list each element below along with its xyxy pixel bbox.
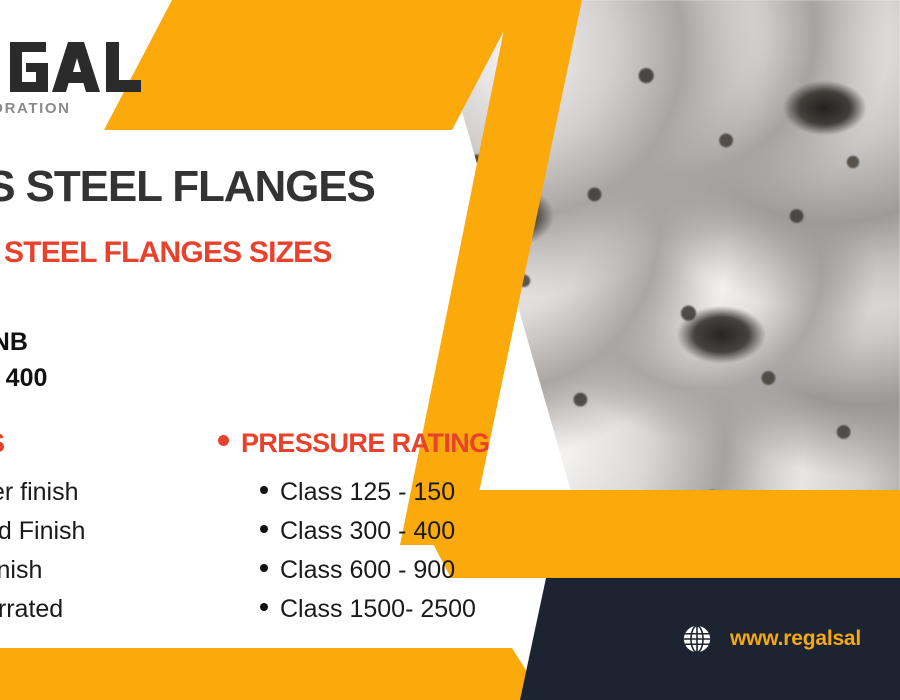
page-subtitle: SS STEEL FLANGES SIZES xyxy=(0,236,332,270)
list-item: ed Finish xyxy=(0,512,204,551)
list-item: Class 300 - 400 xyxy=(260,512,548,551)
finish-heading-label: S xyxy=(0,428,4,459)
pressure-rating-list: Class 125 - 150 Class 300 - 400 Class 60… xyxy=(260,473,548,629)
website-url[interactable]: www.regalsal xyxy=(730,627,861,651)
pressure-rating-heading: PRESSURE RATING xyxy=(218,428,548,459)
finish-item-label: errated xyxy=(0,590,63,629)
finish-item-label: ed Finish xyxy=(0,512,85,551)
marketing-banner: www.regalsal ORPORATION SS STEEL FLANGES… xyxy=(0,0,900,700)
pressure-item-label: Class 300 - 400 xyxy=(280,512,455,551)
footer-content: www.regalsal xyxy=(682,624,861,654)
finish-list: ter finish ed Finish finish errated xyxy=(0,473,204,629)
yellow-bottom-bar xyxy=(0,648,560,700)
pressure-rating-column: PRESSURE RATING Class 125 - 150 Class 30… xyxy=(218,428,548,629)
bullet-dot-icon xyxy=(260,603,268,611)
list-item: Class 1500- 2500 xyxy=(260,590,548,629)
bullet-dot-icon xyxy=(260,525,268,533)
list-item: ter finish xyxy=(0,473,204,512)
finish-item-label: finish xyxy=(0,551,42,590)
logo-subtitle: ORPORATION xyxy=(0,100,152,117)
list-item: finish xyxy=(0,551,204,590)
pressure-rating-heading-label: PRESSURE RATING xyxy=(241,428,490,459)
globe-icon xyxy=(682,624,712,654)
finish-item-label: ter finish xyxy=(0,473,78,512)
list-item: Class 125 - 150 xyxy=(260,473,548,512)
bullet-dot-icon xyxy=(260,564,268,572)
pressure-item-label: Class 600 - 900 xyxy=(280,551,455,590)
company-logo: ORPORATION xyxy=(0,36,152,117)
page-title: SS STEEL FLANGES xyxy=(0,162,375,212)
bullet-dot-icon xyxy=(260,486,268,494)
regal-logo-icon xyxy=(0,36,152,98)
spec-item-pn: PN 400 xyxy=(0,360,47,396)
size-spec-list: 8 " 00NB PN 400 xyxy=(0,288,47,396)
finish-column: S ter finish ed Finish finish errated xyxy=(0,428,204,629)
list-item: Class 600 - 900 xyxy=(260,551,548,590)
finish-heading: S xyxy=(0,428,204,459)
pressure-item-label: Class 1500- 2500 xyxy=(280,590,476,629)
spec-item-inches: 8 " xyxy=(0,288,47,324)
pressure-item-label: Class 125 - 150 xyxy=(280,473,455,512)
spec-item-nb: 00NB xyxy=(0,324,47,360)
list-item: errated xyxy=(0,590,204,629)
bullet-dot-icon xyxy=(218,435,229,446)
